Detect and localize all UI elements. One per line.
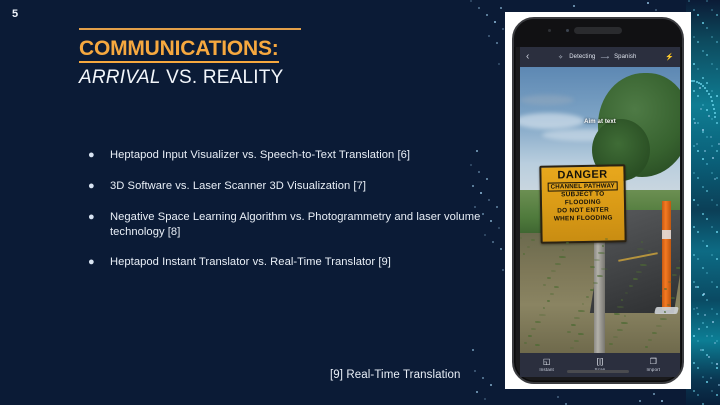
subtitle-rest: VS. REALITY — [161, 67, 284, 88]
vegetation-speckle — [590, 289, 594, 291]
scan-icon: [|] — [597, 358, 604, 366]
vegetation-speckle — [645, 346, 648, 348]
presentation-slide: 5 COMMUNICATIONS: ARRIVAL VS. REALITY ●H… — [0, 0, 720, 405]
instant-label: Instant — [539, 367, 554, 372]
vegetation-speckle — [656, 325, 662, 327]
bottom-bar-item-import[interactable]: ❐Import — [629, 358, 677, 372]
sign-support-post — [594, 224, 605, 353]
translate-app-bar: ‹ ✧ Detecting ⟶ Spanish ⚡ — [520, 47, 680, 67]
bullet-marker-icon: ● — [88, 179, 110, 194]
vegetation-speckle — [602, 245, 604, 247]
vegetation-speckle — [578, 310, 585, 312]
flash-off-icon[interactable]: ⚡ — [665, 53, 674, 61]
vegetation-speckle — [597, 275, 603, 277]
phone-side-button[interactable] — [684, 115, 685, 137]
bullet-marker-icon: ● — [88, 210, 110, 225]
vegetation-speckle — [528, 335, 532, 337]
camera-viewfinder-photo: DANGER CHANNEL PATHWAY SUBJECT TO FLOODI… — [520, 67, 680, 353]
phone-home-indicator — [567, 370, 629, 373]
vegetation-speckle — [543, 307, 545, 309]
vegetation-speckle — [648, 250, 651, 252]
vegetation-speckle — [551, 270, 556, 272]
vegetation-speckle — [520, 237, 522, 239]
vegetation-speckle — [613, 336, 618, 338]
bullet-text: Heptapod Input Visualizer vs. Speech-to-… — [110, 148, 410, 163]
vegetation-speckle — [524, 342, 527, 344]
import-icon: ❐ — [650, 358, 657, 366]
bullet-text: Negative Space Learning Algorithm vs. Ph… — [110, 210, 488, 239]
vegetation-speckle — [566, 242, 569, 244]
target-language-label[interactable]: Spanish — [614, 54, 636, 60]
vegetation-speckle — [664, 288, 667, 290]
vegetation-speckle — [617, 329, 623, 331]
list-item: ●Negative Space Learning Algorithm vs. P… — [88, 210, 488, 239]
bullet-marker-icon: ● — [88, 148, 110, 163]
arrow-right-icon: ⟶ — [600, 54, 609, 61]
vegetation-speckle — [562, 249, 564, 251]
vegetation-speckle — [637, 248, 644, 250]
vegetation-speckle — [640, 264, 647, 266]
figure-caption: [9] Real-Time Translation — [330, 369, 461, 381]
vegetation-speckle — [598, 252, 605, 254]
vegetation-speckle — [621, 322, 628, 324]
title-top-rule — [79, 28, 301, 30]
vegetation-speckle — [550, 293, 554, 295]
vegetation-speckle — [535, 344, 540, 346]
marker-post-base — [654, 307, 679, 314]
sparkle-icon: ✧ — [558, 54, 563, 61]
vegetation-speckle — [571, 324, 576, 326]
vegetation-speckle — [667, 304, 670, 306]
page-subtitle: ARRIVAL VS. REALITY — [79, 67, 409, 89]
phone-camera-icon — [566, 29, 569, 32]
title-block: COMMUNICATIONS: ARRIVAL VS. REALITY — [79, 28, 409, 88]
danger-sign: DANGER CHANNEL PATHWAY SUBJECT TO FLOODI… — [539, 164, 626, 243]
import-label: Import — [647, 367, 661, 372]
vegetation-speckle — [652, 332, 657, 334]
phone-sensor-icon — [548, 29, 551, 32]
vegetation-speckle — [547, 300, 550, 302]
vegetation-speckle — [671, 297, 675, 299]
vegetation-speckle — [586, 296, 589, 298]
vegetation-speckle — [636, 271, 642, 273]
phone-speaker-notch — [574, 27, 622, 34]
vegetation-speckle — [679, 260, 680, 262]
vegetation-speckle — [633, 278, 638, 280]
list-item: ●3D Software vs. Laser Scanner 3D Visual… — [88, 179, 488, 194]
bullet-text: Heptapod Instant Translator vs. Real-Tim… — [110, 255, 391, 270]
vegetation-speckle — [648, 339, 652, 341]
vegetation-speckle — [527, 246, 530, 248]
vegetation-speckle — [641, 241, 643, 243]
list-item: ●Heptapod Input Visualizer vs. Speech-to… — [88, 148, 488, 163]
source-language-label[interactable]: Detecting — [569, 54, 595, 60]
vegetation-speckle — [624, 315, 626, 317]
phone-volume-button[interactable] — [684, 147, 685, 181]
aim-at-text-hint: Aim at text — [520, 119, 680, 125]
sign-headline: DANGER — [557, 169, 607, 182]
vegetation-speckle — [590, 266, 595, 268]
bullet-list: ●Heptapod Input Visualizer vs. Speech-to… — [88, 148, 488, 270]
vegetation-speckle — [582, 303, 584, 305]
vegetation-speckle — [574, 340, 579, 342]
vegetation-speckle — [593, 282, 598, 284]
vegetation-speckle — [594, 259, 600, 261]
vegetation-speckle — [554, 286, 559, 288]
vegetation-speckle — [617, 306, 624, 308]
vegetation-speckle — [660, 295, 662, 297]
strip-dot-pattern — [686, 0, 720, 405]
translate-bottom-bar: ◱Instant[|]Scan❐Import — [520, 353, 680, 377]
vegetation-speckle — [539, 314, 546, 316]
vegetation-speckle — [523, 253, 525, 255]
vegetation-speckle — [543, 284, 546, 286]
page-number: 5 — [12, 8, 18, 20]
vegetation-speckle — [614, 313, 620, 315]
cloud-shape — [520, 95, 574, 105]
vegetation-speckle — [664, 311, 666, 313]
vegetation-speckle — [570, 347, 574, 349]
vegetation-speckle — [672, 274, 677, 276]
language-selector[interactable]: ✧ Detecting ⟶ Spanish — [529, 54, 665, 61]
vegetation-speckle — [535, 321, 541, 323]
vegetation-speckle — [531, 328, 536, 330]
bottom-bar-item-instant[interactable]: ◱Instant — [523, 358, 571, 372]
sign-line: WHEN FLOODING — [554, 214, 613, 223]
vegetation-speckle — [644, 257, 646, 259]
list-item: ●Heptapod Instant Translator vs. Real-Ti… — [88, 255, 488, 270]
vegetation-speckle — [676, 267, 680, 269]
vegetation-speckle — [621, 299, 623, 301]
decorative-right-strip — [686, 0, 720, 405]
phone-power-button[interactable] — [684, 191, 685, 225]
bullet-marker-icon: ● — [88, 255, 110, 270]
vegetation-speckle — [660, 318, 667, 320]
vegetation-speckle — [605, 238, 608, 240]
page-title: COMMUNICATIONS: — [79, 38, 279, 63]
vegetation-speckle — [629, 285, 633, 287]
vegetation-speckle — [567, 331, 571, 333]
orange-marker-post — [662, 201, 671, 310]
vegetation-speckle — [609, 343, 613, 345]
vegetation-speckle — [559, 256, 566, 258]
phone-mockup: ‹ ✧ Detecting ⟶ Spanish ⚡ DANGE — [512, 17, 684, 384]
vegetation-speckle — [555, 263, 561, 265]
vegetation-speckle — [547, 277, 551, 279]
bullet-text: 3D Software vs. Laser Scanner 3D Visuali… — [110, 179, 366, 194]
instant-icon: ◱ — [543, 358, 551, 366]
subtitle-italic-part: ARRIVAL — [79, 67, 161, 88]
vegetation-speckle — [625, 292, 628, 294]
vegetation-speckle — [578, 333, 584, 335]
vegetation-speckle — [668, 281, 672, 283]
vegetation-speckle — [574, 317, 580, 319]
phone-status-area — [514, 19, 682, 47]
vegetation-speckle — [601, 268, 608, 270]
vegetation-speckle — [531, 239, 535, 241]
